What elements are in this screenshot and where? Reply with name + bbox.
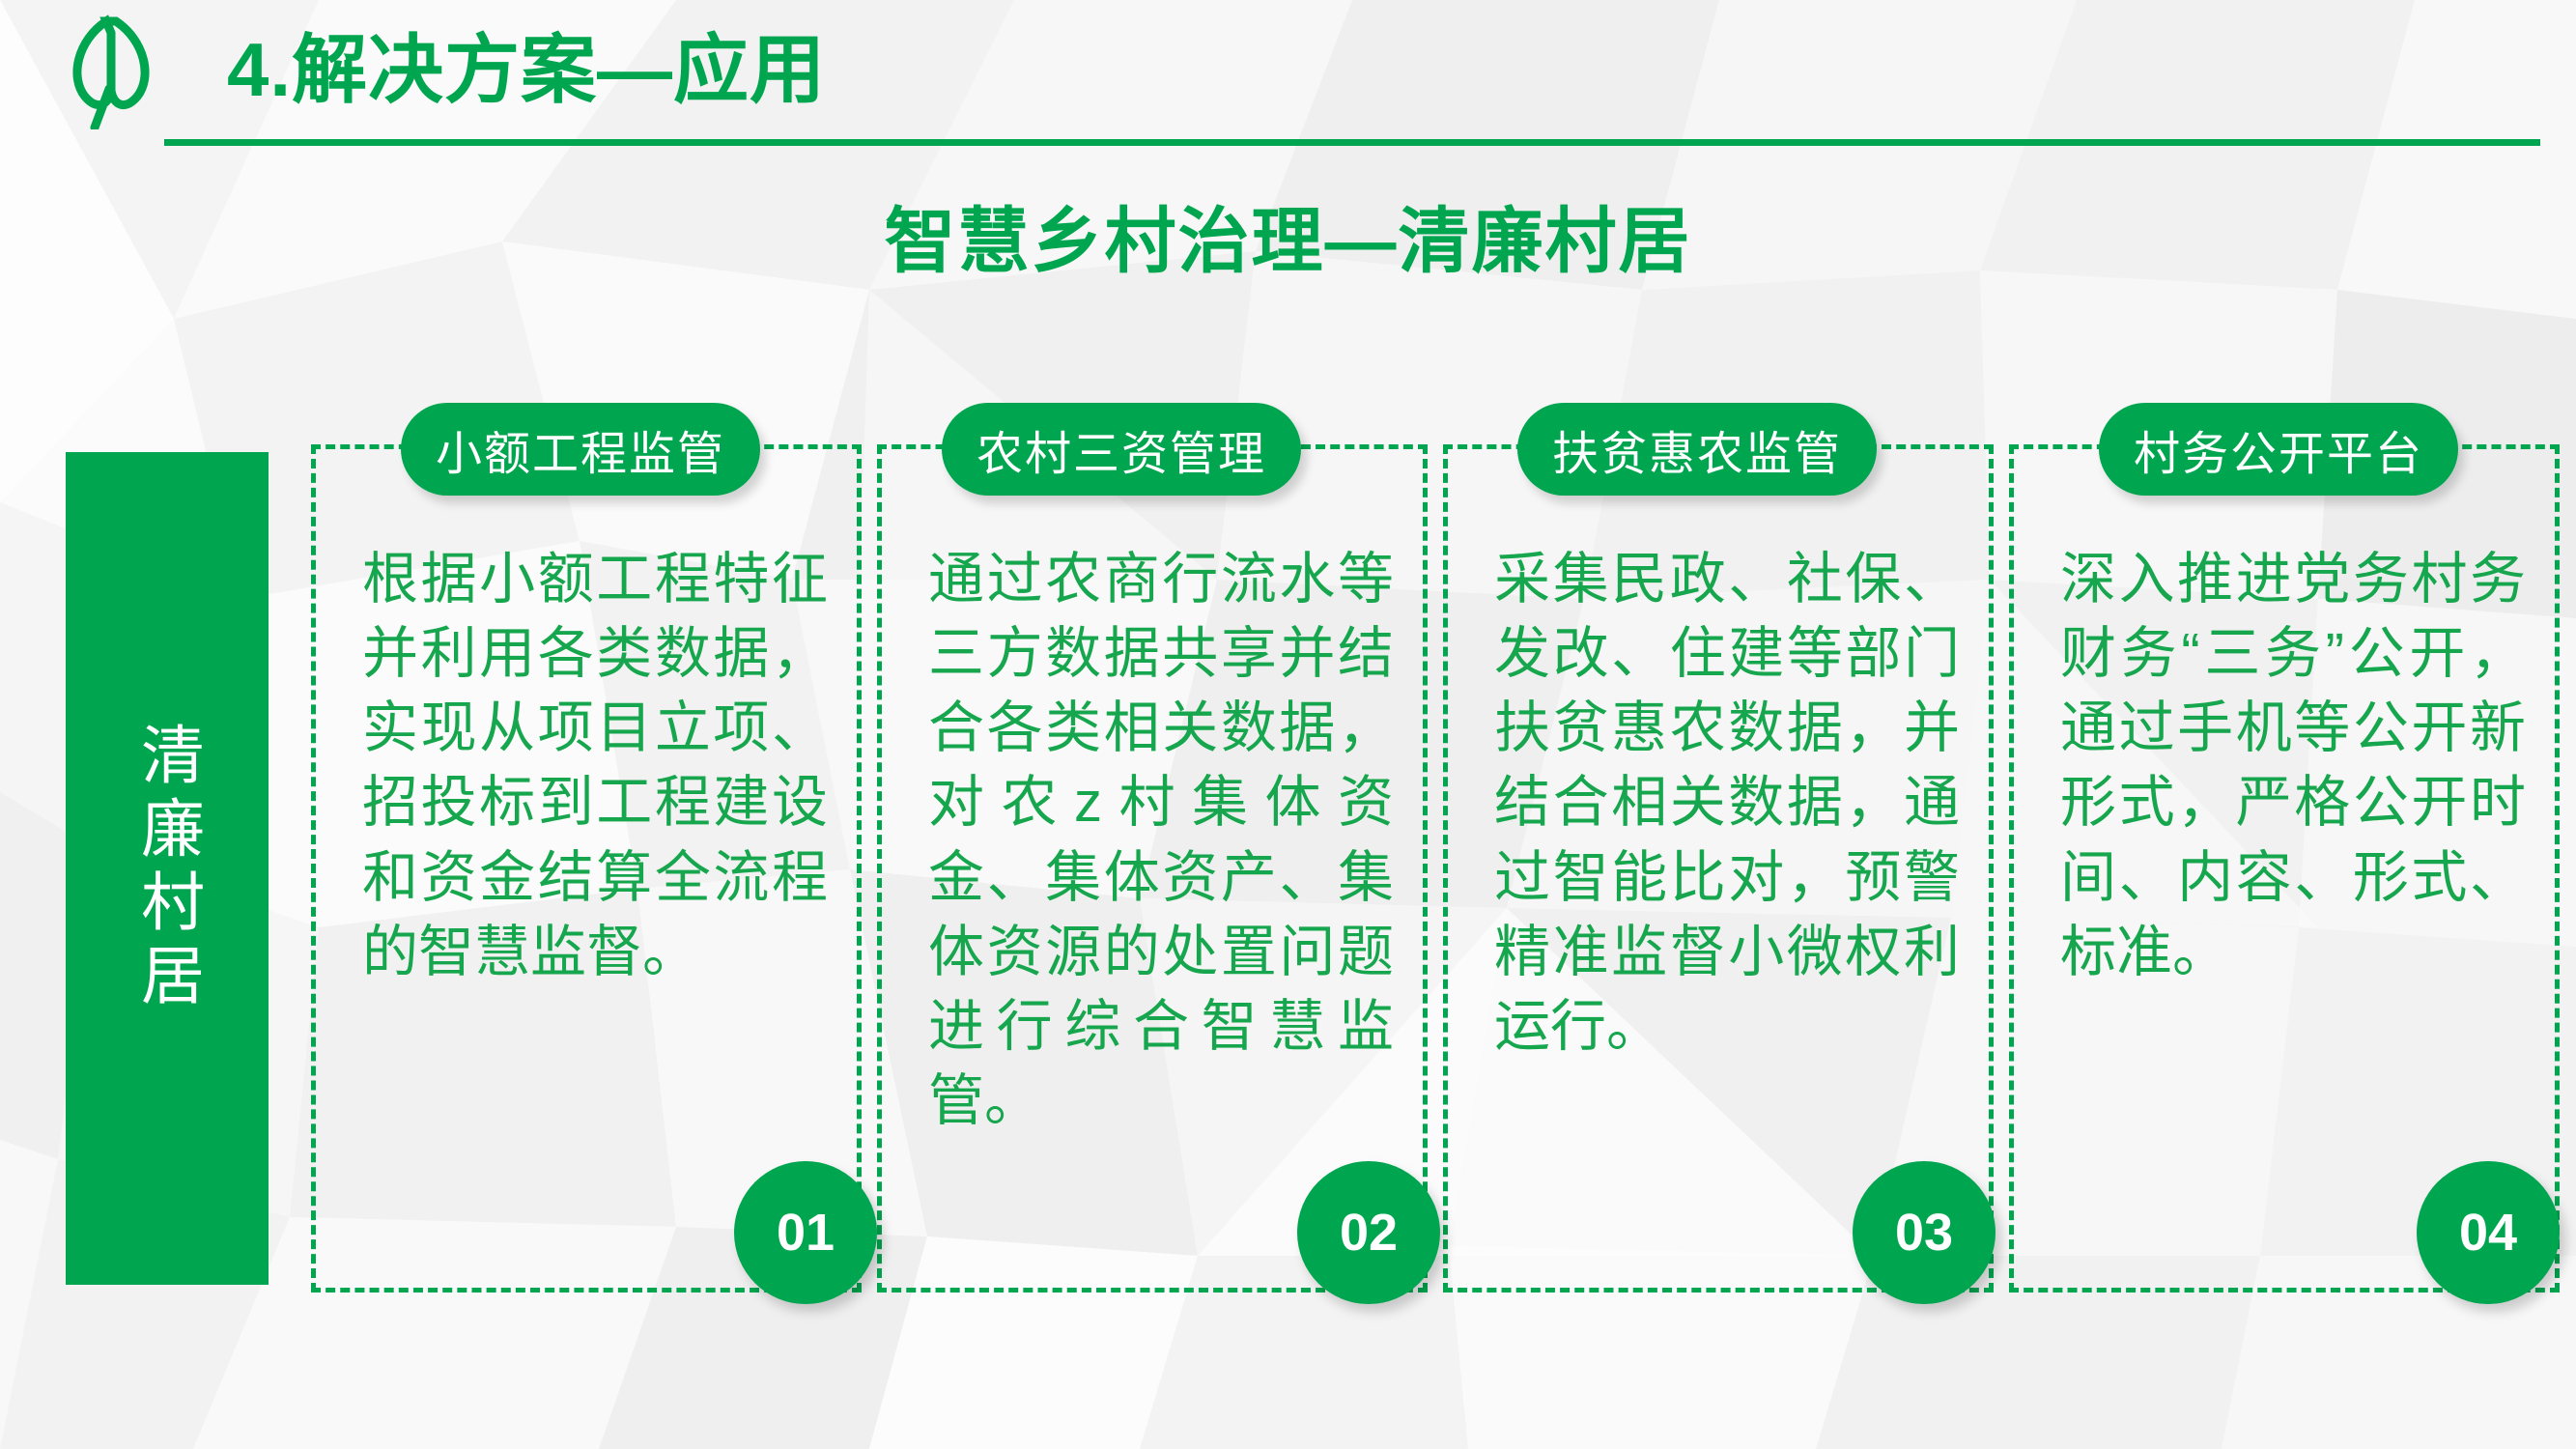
card-badge[interactable]: 村务公开平台: [2099, 403, 2458, 496]
step-number-badge: 04: [2417, 1161, 2560, 1304]
leaf-icon: [56, 14, 162, 129]
page-title: 4.解决方案—应用: [227, 10, 826, 118]
header-divider: [164, 139, 2540, 146]
step-number-badge: 03: [1853, 1161, 1996, 1304]
card-body-text: 采集民政、社保、发改、住建等部门扶贫惠农数据，并结合相关数据，通过智能比对，预警…: [1494, 542, 1960, 1064]
card-badge[interactable]: 农村三资管理: [942, 403, 1301, 496]
card-badge[interactable]: 扶贫惠农监管: [1517, 403, 1877, 496]
step-number-badge: 02: [1297, 1161, 1440, 1304]
step-number-badge: 01: [734, 1161, 877, 1304]
card-body-text: 深入推进党务村务财务“三务”公开，通过手机等公开新形式，严格公开时间、内容、形式…: [2060, 542, 2526, 989]
card-badge[interactable]: 小额工程监管: [401, 403, 760, 496]
side-banner: 清廉村居: [66, 452, 269, 1285]
section-title: 智慧乡村治理—清廉村居: [0, 184, 2576, 287]
page-header: 4.解决方案—应用: [0, 0, 2576, 155]
card-body-text: 根据小额工程特征并利用各类数据，实现从项目立项、招投标到工程建设和资金结算全流程…: [362, 542, 828, 989]
side-banner-label: 清廉村居: [133, 722, 201, 1015]
card-body-text: 通过农商行流水等三方数据共享并结合各类相关数据，对农z村集体资金、集体资产、集体…: [928, 542, 1394, 1138]
